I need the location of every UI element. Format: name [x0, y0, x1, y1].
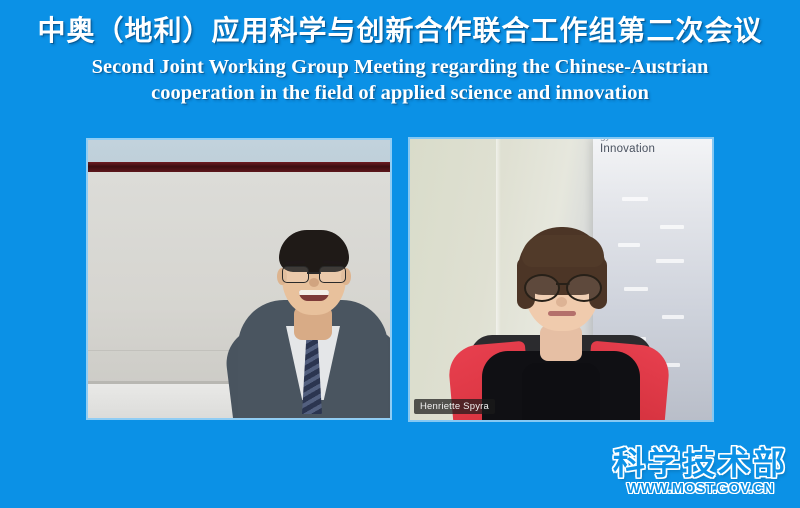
- eyeglass-lens-left-round: [524, 274, 560, 302]
- eyeglass-lens-right: [319, 266, 346, 283]
- banner-text-innovation: Innovation: [600, 143, 712, 155]
- watermark-organization: 科学技术部: [613, 447, 788, 479]
- banner-line-2: [660, 225, 684, 229]
- banner-text-top: gy: [600, 139, 712, 142]
- banner-line-6: [662, 315, 684, 319]
- participant-fringe: [522, 235, 604, 267]
- page-title-english-line1: Second Joint Working Group Meeting regar…: [92, 56, 709, 78]
- page-title-chinese: 中奥（地利）应用科学与创新合作联合工作组第二次会议: [0, 0, 800, 47]
- participant-mouth-right: [548, 311, 576, 316]
- eyeglass-lens-right-round: [566, 274, 602, 302]
- participant-nose-right: [556, 297, 567, 307]
- eyeglasses-round-icon: [524, 274, 602, 298]
- banner-line-5: [624, 287, 648, 291]
- banner-line-3: [618, 243, 640, 247]
- participant-teeth: [299, 290, 329, 295]
- participant-name-tag: Henriette Spyra: [414, 399, 495, 414]
- video-panel-right[interactable]: gy Innovation: [410, 139, 712, 420]
- eyeglass-lens-left: [282, 266, 309, 283]
- participant-nose: [309, 278, 319, 287]
- banner-line-1: [622, 197, 648, 201]
- participant-black-top: [522, 363, 600, 420]
- slide-canvas: 中奥（地利）应用科学与创新合作联合工作组第二次会议 Second Joint W…: [0, 0, 800, 508]
- participant-name-label: Henriette Spyra: [420, 401, 489, 412]
- header: 中奥（地利）应用科学与创新合作联合工作组第二次会议 Second Joint W…: [0, 0, 800, 125]
- page-title-english-line2: cooperation in the field of applied scie…: [0, 80, 800, 106]
- wall-trim: [88, 162, 390, 172]
- participant-mouth: [299, 290, 329, 301]
- watermark: 科学技术部 WWW.MOST.GOV.CN: [613, 447, 788, 497]
- watermark-url: WWW.MOST.GOV.CN: [613, 482, 788, 497]
- banner-line-4: [656, 259, 684, 263]
- video-panel-left[interactable]: DAI Gang: [88, 140, 390, 418]
- page-title-english: Second Joint Working Group Meeting regar…: [0, 47, 800, 106]
- room-ceiling: [88, 140, 390, 162]
